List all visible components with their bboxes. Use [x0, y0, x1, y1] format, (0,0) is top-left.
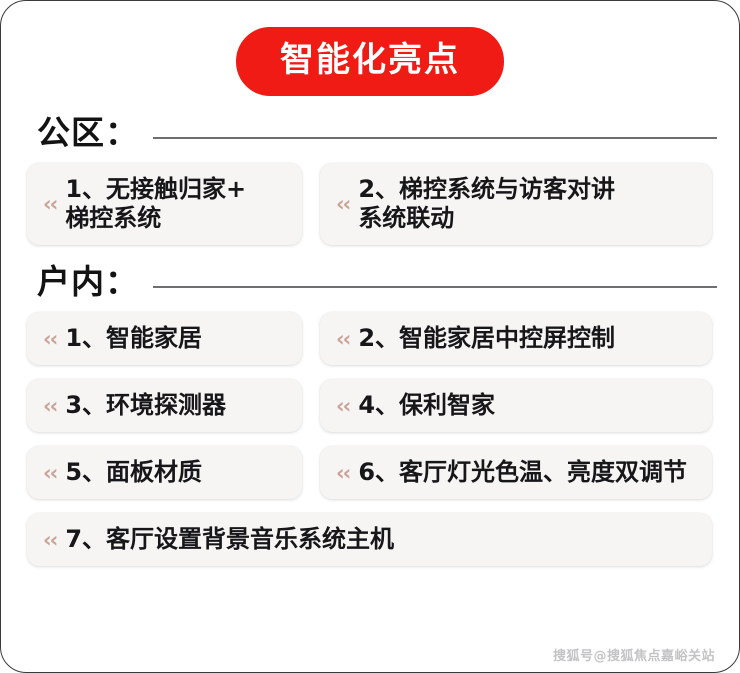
section-public-area: 公区： ‹‹ 1、无接触归家+ 梯控系统 ‹‹ 2、梯控系统与访客对讲 系统联动: [1, 116, 739, 245]
section-divider-line: [153, 137, 717, 139]
feature-card-indoor-4-label: 4、保利智家: [358, 391, 495, 420]
feature-card-indoor-7-label: 7、客厅设置背景音乐系统主机: [65, 525, 394, 554]
section-header-indoor: 户内：: [23, 265, 717, 298]
feature-card-public-2-line2: 系统联动: [358, 204, 454, 232]
feature-card-indoor-3-label: 3、环境探测器: [65, 391, 226, 420]
feature-card-indoor-5-label: 5、面板材质: [65, 458, 202, 487]
double-chevron-left-icon: ‹‹: [43, 530, 56, 551]
double-chevron-left-icon: ‹‹: [336, 329, 349, 350]
card-grid-public-area: ‹‹ 1、无接触归家+ 梯控系统 ‹‹ 2、梯控系统与访客对讲 系统联动: [23, 163, 717, 245]
feature-card-indoor-4[interactable]: ‹‹ 4、保利智家: [320, 379, 712, 432]
feature-card-indoor-2-label: 2、智能家居中控屏控制: [358, 324, 615, 353]
page-title-badge: 智能化亮点: [236, 27, 504, 96]
section-title-public-area: 公区：: [37, 116, 139, 149]
feature-card-indoor-6[interactable]: ‹‹ 6、客厅灯光色温、亮度双调节: [320, 446, 712, 499]
poster-page: 智能化亮点 公区： ‹‹ 1、无接触归家+ 梯控系统 ‹‹ 2、梯控系统与访客对…: [0, 0, 740, 673]
feature-card-indoor-7[interactable]: ‹‹ 7、客厅设置背景音乐系统主机: [27, 513, 712, 566]
double-chevron-left-icon: ‹‹: [336, 396, 349, 417]
double-chevron-left-icon: ‹‹: [336, 194, 349, 215]
section-header-public-area: 公区：: [23, 116, 717, 149]
double-chevron-left-icon: ‹‹: [336, 463, 349, 484]
feature-card-public-2[interactable]: ‹‹ 2、梯控系统与访客对讲 系统联动: [320, 163, 712, 245]
feature-card-public-2-label: 2、梯控系统与访客对讲 系统联动: [358, 175, 615, 233]
double-chevron-left-icon: ‹‹: [43, 463, 56, 484]
card-grid-indoor: ‹‹ 1、智能家居 ‹‹ 2、智能家居中控屏控制 ‹‹ 3、环境探测器 ‹‹ 4…: [23, 312, 717, 566]
feature-card-public-1-label: 1、无接触归家+ 梯控系统: [65, 175, 246, 233]
double-chevron-left-icon: ‹‹: [43, 194, 56, 215]
section-indoor: 户内： ‹‹ 1、智能家居 ‹‹ 2、智能家居中控屏控制 ‹‹ 3、环境探测器 …: [1, 265, 739, 566]
feature-card-indoor-3[interactable]: ‹‹ 3、环境探测器: [27, 379, 302, 432]
feature-card-public-1[interactable]: ‹‹ 1、无接触归家+ 梯控系统: [27, 163, 302, 245]
feature-card-public-1-line1: 1、无接触归家+: [65, 175, 246, 203]
feature-card-indoor-2[interactable]: ‹‹ 2、智能家居中控屏控制: [320, 312, 712, 365]
double-chevron-left-icon: ‹‹: [43, 329, 56, 350]
feature-card-indoor-5[interactable]: ‹‹ 5、面板材质: [27, 446, 302, 499]
title-badge-container: 智能化亮点: [1, 1, 739, 96]
feature-card-indoor-6-label: 6、客厅灯光色温、亮度双调节: [358, 458, 687, 487]
watermark-text: 搜狐号@搜狐焦点嘉峪关站: [553, 645, 715, 664]
feature-card-public-2-line1: 2、梯控系统与访客对讲: [358, 175, 615, 203]
double-chevron-left-icon: ‹‹: [43, 396, 56, 417]
feature-card-public-1-line2: 梯控系统: [65, 204, 161, 232]
section-title-indoor: 户内：: [37, 265, 139, 298]
feature-card-indoor-1[interactable]: ‹‹ 1、智能家居: [27, 312, 302, 365]
section-divider-line: [153, 286, 717, 288]
feature-card-indoor-1-label: 1、智能家居: [65, 324, 202, 353]
